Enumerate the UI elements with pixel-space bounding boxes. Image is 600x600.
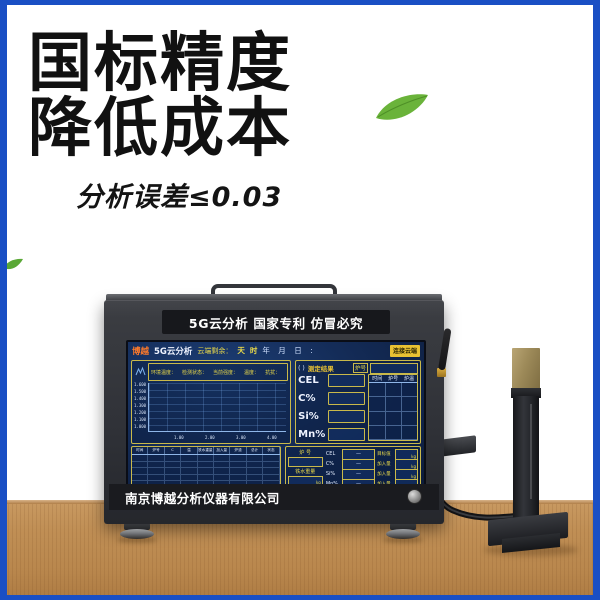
history-col: 炉温: [401, 375, 417, 382]
element-row: Mn%: [298, 428, 365, 441]
calc-row: CEL — 目标值 kg: [326, 449, 418, 459]
screen-brand: 博越: [132, 345, 149, 357]
records-col: 加入量: [214, 447, 230, 454]
range-dash: —: [356, 451, 361, 457]
chart-grid: [148, 383, 286, 432]
charge-calculator-panel[interactable]: 炉 号 铁水重量 kg CEL — 目标值 kg: [285, 446, 421, 489]
unit-day: 天: [237, 345, 245, 356]
y-tick: 1.000: [134, 424, 146, 429]
history-header: 时间 炉号 炉温: [369, 375, 417, 383]
company-label-bar: 南京博越分析仪器有限公司: [109, 484, 439, 510]
measure-result-panel[interactable]: ( ) 测定结果 炉号 CEL: [295, 360, 421, 444]
banner-text: 5G云分析 国家专利 仿冒必究: [189, 313, 363, 332]
element-readouts: CEL C% Si%: [298, 374, 365, 441]
records-col: 时间: [132, 447, 148, 454]
date-fields: 年 月 日 :: [262, 345, 315, 356]
element-row: C%: [298, 392, 365, 405]
x-tick: 3.00: [236, 435, 246, 440]
element-value-box[interactable]: [328, 428, 365, 441]
chart-plot-area: 1.600 1.500 1.400 1.300 1.200 1.100 1.00…: [148, 383, 288, 441]
calc-furnace-input[interactable]: [288, 457, 323, 467]
poster-stage: 国标精度 降低成本 分析误差≤0.03: [0, 0, 600, 600]
calc-furnace-label: 炉 号: [288, 449, 323, 456]
calc-element: C%: [326, 461, 340, 467]
history-col: 炉号: [385, 375, 401, 382]
border-right: [593, 0, 600, 600]
result-title: 测定结果: [308, 363, 334, 373]
antenna[interactable]: [438, 328, 446, 377]
screen-bottom-row: 时间 炉号 C 温 铁水重量 加入量 炉渣 总计 状态: [131, 446, 421, 489]
info-item: 抗扰：: [265, 369, 280, 376]
records-row[interactable]: [132, 475, 280, 482]
element-value-box[interactable]: [328, 392, 365, 405]
info-item: 环境温度：: [151, 369, 176, 376]
history-row[interactable]: [369, 426, 417, 440]
chart-info-strip: 环境温度： 检测状态： 当前强度： 温度： 抗扰：: [148, 363, 288, 381]
screen-middle-row: 环境温度： 检测状态： 当前强度： 温度： 抗扰： 1.600 1.500 1.…: [131, 360, 421, 444]
records-col: 炉号: [148, 447, 164, 454]
screen-header: 博越 5G云分析 云端剩余： 天 时 年 月 日 : 连接云端: [128, 342, 424, 359]
probe-column-highlight: [530, 404, 532, 499]
element-row: CEL: [298, 374, 365, 387]
range-dash: —: [356, 471, 361, 477]
calc-element: Si%: [326, 471, 340, 477]
range-dash: —: [356, 461, 361, 467]
probe-stand: [500, 348, 556, 562]
y-tick: 1.200: [134, 410, 146, 415]
history-table[interactable]: 时间 炉号 炉温: [368, 374, 418, 441]
headline-line-2: 降低成本: [28, 97, 292, 162]
records-header: 时间 炉号 C 温 铁水重量 加入量 炉渣 总计 状态: [132, 447, 280, 455]
connect-cloud-button[interactable]: 连接云端: [390, 345, 420, 357]
x-tick: 4.00: [267, 435, 277, 440]
y-tick: 1.300: [134, 403, 146, 408]
records-col: 炉渣: [230, 447, 246, 454]
records-col: 总计: [247, 447, 263, 454]
calc-element: CEL: [326, 451, 340, 457]
x-tick: 1.00: [174, 435, 184, 440]
device-foot-right: [390, 523, 423, 543]
iron-weight-label: 铁水重量: [288, 468, 323, 475]
furnace-field[interactable]: 炉号: [353, 363, 418, 374]
border-left: [0, 0, 7, 600]
calc-tag: 加入量: [377, 461, 393, 467]
screen-title: 5G云分析: [154, 345, 192, 357]
chart-logo-icon: [135, 364, 146, 375]
spectrum-chart-panel[interactable]: 环境温度： 检测状态： 当前强度： 温度： 抗扰： 1.600 1.500 1.…: [131, 360, 291, 444]
records-table[interactable]: 时间 炉号 C 温 铁水重量 加入量 炉渣 总计 状态: [131, 446, 281, 489]
result-body: CEL C% Si%: [298, 374, 418, 441]
headline-line-1: 国标精度: [28, 32, 292, 97]
history-row[interactable]: [369, 412, 417, 426]
element-label: C%: [298, 393, 326, 404]
element-label: Si%: [298, 411, 326, 422]
calc-row: C% — 加入量 kg: [326, 459, 418, 469]
lcd-screen[interactable]: 博越 5G云分析 云端剩余： 天 时 年 月 日 : 连接云端: [126, 340, 426, 494]
furnace-input[interactable]: [370, 363, 418, 374]
top-banner: 5G云分析 国家专利 仿冒必究: [162, 310, 390, 334]
leaf-icon: [372, 92, 432, 126]
info-item: 检测状态：: [182, 369, 207, 376]
y-tick: 1.100: [134, 417, 146, 422]
info-item: 温度：: [244, 369, 259, 376]
y-tick: 1.400: [134, 396, 146, 401]
sample-holder: [512, 348, 540, 390]
company-name: 南京博越分析仪器有限公司: [125, 488, 280, 507]
cloud-remaining-label: 云端剩余：: [197, 346, 232, 356]
border-top: [0, 0, 600, 5]
y-tick: 1.600: [134, 382, 146, 387]
probe-column: [513, 396, 539, 521]
furnace-label: 炉号: [353, 363, 368, 373]
device-foot-left: [124, 523, 157, 543]
history-row[interactable]: [369, 397, 417, 411]
records-col: 状态: [263, 447, 279, 454]
records-row[interactable]: [132, 455, 280, 462]
sub-headline: 分析误差≤0.03: [76, 175, 292, 214]
headline-block: 国标精度 降低成本 分析误差≤0.03: [28, 32, 292, 214]
history-row[interactable]: [369, 383, 417, 397]
x-tick: 2.00: [205, 435, 215, 440]
result-paren: ( ): [298, 365, 305, 372]
element-row: Si%: [298, 410, 365, 423]
element-value-box[interactable]: [328, 410, 365, 423]
unit-time: 时: [250, 345, 258, 356]
records-col: 铁水重量: [198, 447, 214, 454]
antenna-rod: [438, 328, 451, 371]
records-row[interactable]: [132, 468, 280, 475]
calc-tag: 加入量: [377, 471, 393, 477]
calculator-inputs: 炉 号 铁水重量 kg: [288, 449, 323, 486]
element-value-box[interactable]: [328, 374, 365, 387]
y-tick: 1.500: [134, 389, 146, 394]
history-col: 时间: [369, 375, 385, 382]
info-item: 当前强度：: [213, 369, 238, 376]
records-col: 温: [181, 447, 197, 454]
border-bottom: [0, 595, 600, 600]
calc-tag: 目标值: [377, 451, 393, 457]
analyzer-device: 5G云分析 国家专利 仿冒必究 博越 5G云分析 云端剩余： 天 时 年 月 日…: [104, 300, 444, 524]
calc-row: Si% — 加入量 kg: [326, 469, 418, 479]
power-knob[interactable]: [407, 489, 422, 504]
result-header: ( ) 测定结果 炉号: [298, 363, 418, 373]
records-col: C: [165, 447, 181, 454]
records-row[interactable]: [132, 462, 280, 469]
element-label: CEL: [298, 375, 326, 386]
element-label: Mn%: [298, 429, 326, 440]
calculator-rows: CEL — 目标值 kg C% — 加入量 kg Si%: [326, 449, 418, 486]
